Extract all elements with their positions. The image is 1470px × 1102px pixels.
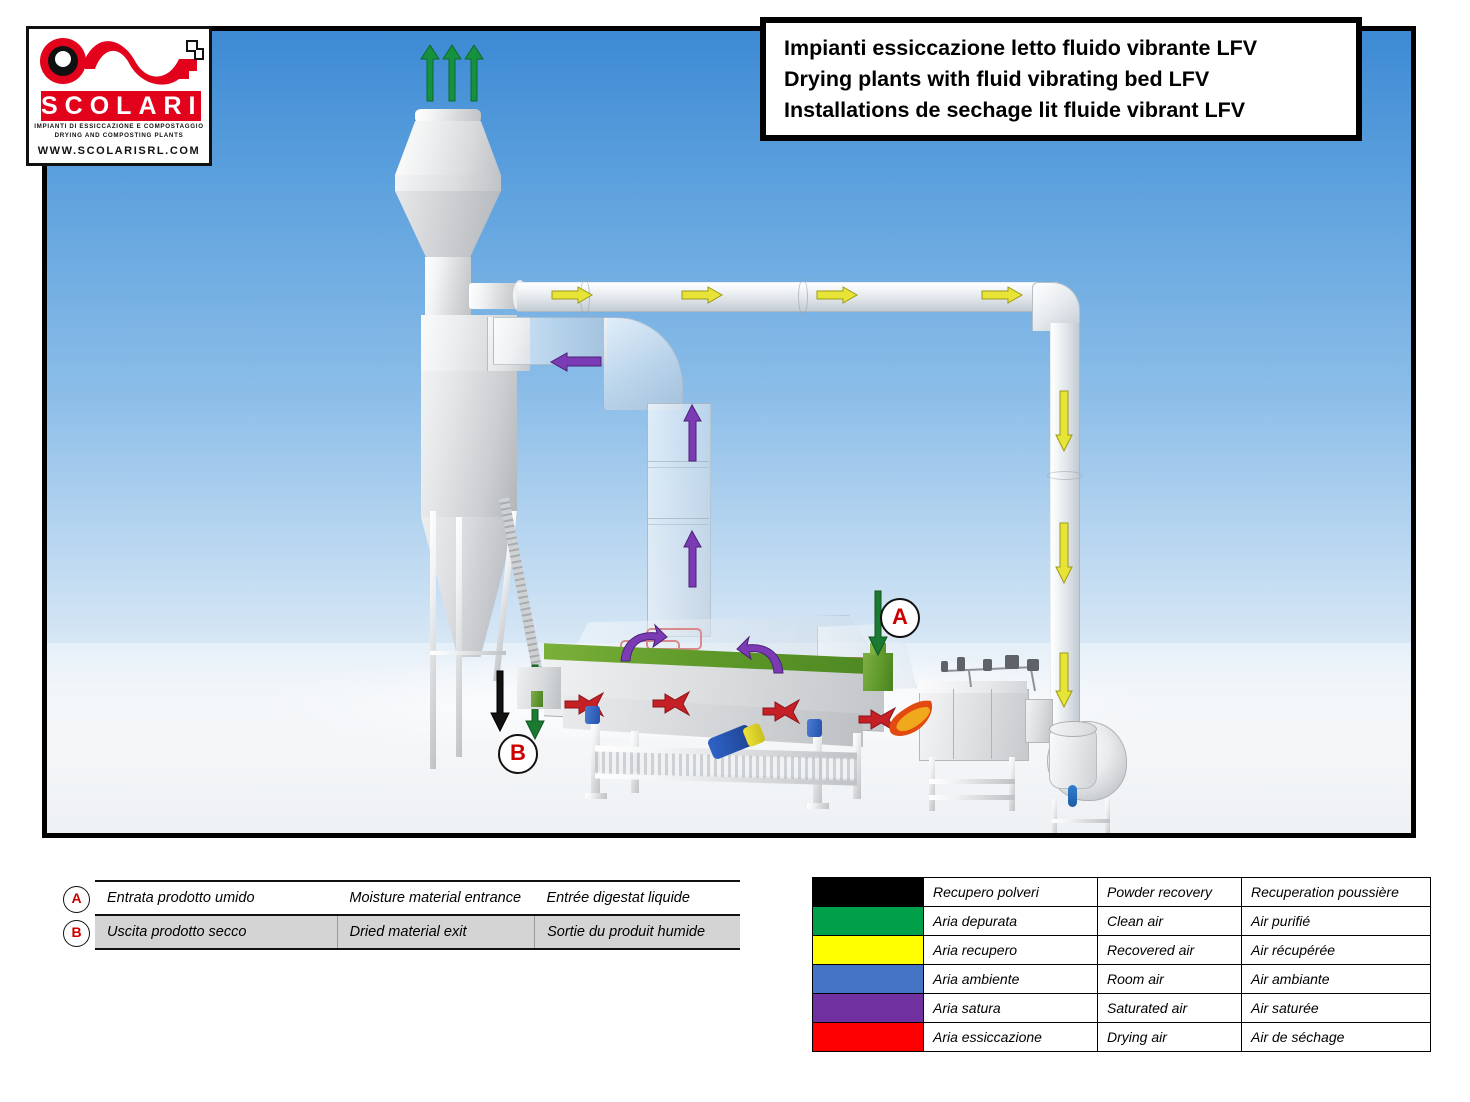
legend-b-it: Uscita prodotto secco: [95, 916, 338, 948]
clean-air-arrows-up: [417, 43, 487, 103]
color-en-drying-air: Drying air: [1098, 1023, 1242, 1052]
poster-page: B: [0, 0, 1470, 1102]
table-row: A Entrata prodotto umido Moisture materi…: [95, 880, 740, 914]
color-en-clean-air: Clean air: [1098, 907, 1242, 936]
drying-air-arrows-left: [647, 686, 907, 746]
color-it-drying-air: Aria essiccazione: [924, 1023, 1098, 1052]
color-it-clean-air: Aria depurata: [924, 907, 1098, 936]
fan-inlet-ring: [1049, 721, 1097, 737]
logo-tagline-it: IMPIANTI DI ESSICCAZIONE E COMPOSTAGGIO: [29, 123, 209, 130]
cyclone-neck: [425, 257, 471, 315]
title-english: Drying plants with fluid vibrating bed L…: [784, 64, 1338, 95]
color-fr-drying-air: Air de séchage: [1242, 1023, 1431, 1052]
illustration-frame: B: [42, 26, 1416, 838]
cyclone-body-lower: [421, 371, 517, 517]
callout-a: A: [880, 598, 920, 638]
powder-recovery-arrow-down: [489, 671, 513, 733]
cyclone-leg: [456, 517, 462, 757]
color-swatch-drying-air: [813, 1023, 924, 1052]
table-row: Aria depurata Clean air Air purifié: [813, 907, 1431, 936]
color-en-powder-recovery: Powder recovery: [1098, 878, 1242, 907]
color-it-recovered-air: Aria recupero: [924, 936, 1098, 965]
recovered-air-arrows-down: [1056, 391, 1074, 721]
heater-panel-seam: [991, 689, 992, 759]
color-fr-room-air: Air ambiante: [1242, 965, 1431, 994]
fan-leg-brace: [1052, 819, 1110, 823]
title-italian: Impianti essiccazione letto fluido vibra…: [784, 33, 1338, 64]
logo-website: WWW.SCOLARISRL.COM: [29, 145, 209, 157]
logo-wordmark: SCOLARI: [41, 91, 201, 121]
callout-b-label: B: [510, 740, 526, 765]
product-outlet-spout: [531, 691, 543, 707]
saturated-air-arrow-left: [549, 353, 601, 371]
callout-a-label: A: [892, 604, 908, 629]
legend-mark-a: A: [63, 886, 90, 913]
color-legend-table: Recupero polveri Powder recovery Recuper…: [812, 877, 1431, 1052]
vibration-isolator: [585, 706, 600, 724]
burner-instrument-rail: [939, 647, 1049, 693]
cyclone-leg-brace: [430, 651, 506, 655]
color-en-room-air: Room air: [1098, 965, 1242, 994]
heater-leg: [1009, 757, 1015, 811]
recovered-air-arrows-right: [552, 287, 1042, 305]
color-swatch-powder-recovery: [813, 878, 924, 907]
legend-a-fr: Entrée digestat liquide: [534, 890, 740, 906]
color-fr-saturated-air: Air saturée: [1242, 994, 1431, 1023]
table-row: Aria ambiente Room air Air ambiante: [813, 965, 1431, 994]
color-it-room-air: Aria ambiente: [924, 965, 1098, 994]
heater-leg-brace: [929, 795, 1015, 800]
table-row: Aria satura Saturated air Air saturée: [813, 994, 1431, 1023]
legend-b-fr: Sortie du produit humide: [535, 924, 740, 940]
table-row: Aria essiccazione Drying air Air de séch…: [813, 1023, 1431, 1052]
table-row: Recupero polveri Powder recovery Recuper…: [813, 878, 1431, 907]
color-fr-clean-air: Air purifié: [1242, 907, 1431, 936]
color-swatch-recovered-air: [813, 936, 924, 965]
cyclone-leg: [430, 511, 436, 769]
vibration-isolator: [807, 719, 822, 737]
logo-tagline-en: DRYING AND COMPOSTING PLANTS: [29, 132, 209, 139]
legend-a-it: Entrata prodotto umido: [95, 890, 337, 906]
color-fr-recovered-air: Air récupérée: [1242, 936, 1431, 965]
burner-flame: [885, 697, 935, 739]
cyclone-outlet-spout: [469, 283, 519, 309]
heater-cabinet: [919, 689, 1029, 761]
color-swatch-room-air: [813, 965, 924, 994]
color-swatch-clean-air: [813, 907, 924, 936]
title-box: Impianti essiccazione letto fluido vibra…: [760, 17, 1362, 141]
color-en-saturated-air: Saturated air: [1098, 994, 1242, 1023]
heater-leg-brace: [929, 779, 1015, 784]
color-en-recovered-air: Recovered air: [1098, 936, 1242, 965]
table-row: Aria recupero Recovered air Air récupéré…: [813, 936, 1431, 965]
drying-air-arrow-left-first: [559, 691, 609, 719]
bed-foot: [585, 793, 607, 799]
saturated-air-arrows-up: [683, 399, 703, 599]
table-row: B Uscita prodotto secco Dried material e…: [95, 914, 740, 950]
scolari-wave-logo-icon: [37, 35, 205, 91]
color-swatch-saturated-air: [813, 994, 924, 1023]
color-fr-powder-recovery: Recuperation poussière: [1242, 878, 1431, 907]
heater-leg: [929, 757, 935, 811]
fan-drive-marker: [1068, 785, 1077, 807]
saturated-air-curve-right: [737, 635, 787, 675]
company-logo: SCOLARI IMPIANTI DI ESSICCAZIONE E COMPO…: [26, 26, 212, 166]
legend-b-en: Dried material exit: [338, 916, 535, 948]
legend-a-en: Moisture material entrance: [337, 890, 534, 906]
title-french: Installations de sechage lit fluide vibr…: [784, 95, 1338, 126]
ab-legend-table: A Entrata prodotto umido Moisture materi…: [95, 880, 740, 950]
legend-mark-b: B: [63, 920, 90, 947]
cyclone-band: [395, 175, 501, 191]
heater-panel-seam: [953, 689, 954, 759]
color-it-powder-recovery: Recupero polveri: [924, 878, 1098, 907]
stack-cap: [415, 109, 481, 123]
callout-b: B: [498, 734, 538, 774]
bed-foot: [807, 803, 829, 809]
color-it-saturated-air: Aria satura: [924, 994, 1098, 1023]
saturated-air-curve-left: [617, 623, 667, 663]
